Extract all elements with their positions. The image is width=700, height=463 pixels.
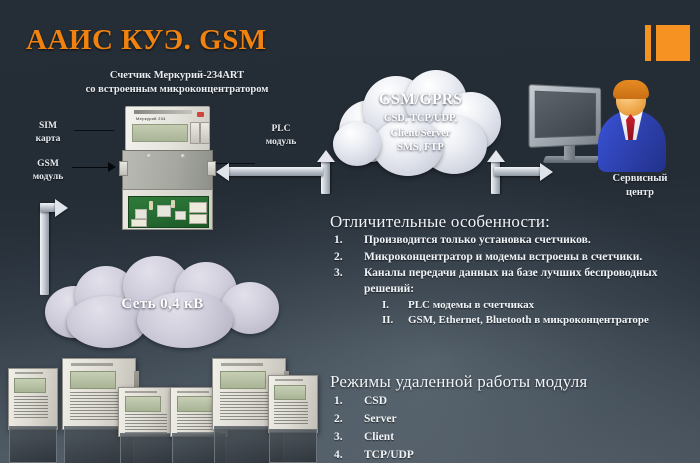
meter-clip-right: [207, 161, 216, 176]
list-item: 4. TCP/UDP: [330, 447, 696, 463]
pcb-capacitor: [149, 201, 153, 210]
meter-brand-strip: [221, 363, 263, 366]
meter-lcd-display: [125, 396, 161, 412]
meter-bank-item-1: [8, 368, 56, 463]
list-item: 3. Client: [330, 429, 696, 446]
pcb-capacitor: [171, 200, 175, 208]
arrow-meter-to-cloud-vertical: [321, 160, 330, 194]
list-item: I. PLC модемы в счетчиках: [364, 298, 696, 313]
monitor-screen: [535, 91, 596, 138]
cloud-low-voltage-network: Сеть 0,4 кВ: [45, 256, 280, 348]
meter-clip-left: [119, 161, 128, 176]
meter-pcb: [128, 196, 209, 228]
meter-caption: Счетчик Меркурий-234ART со встроенным ми…: [52, 69, 302, 97]
meter-button-2[interactable]: [200, 122, 210, 144]
modes-panel: Режимы удаленной работы модуля 1. CSD 2.…: [330, 372, 696, 463]
arrow-right-icon-3: [55, 199, 68, 217]
meter-seal: [197, 112, 204, 117]
meter-label-rows: [70, 392, 124, 422]
list-item: 1. CSD: [330, 393, 696, 410]
pcb-terminal-block: [189, 214, 207, 224]
list-item-number: 2.: [334, 411, 343, 428]
list-item-text: Микроконцентратор и модемы встроены в сч…: [364, 251, 642, 263]
list-item-number: 3.: [334, 266, 343, 282]
list-item-number: 1.: [334, 233, 343, 249]
list-item-number: I.: [382, 298, 389, 313]
page-title: ААИС КУЭ. GSM: [26, 24, 267, 57]
list-item: II. GSM, Ethernet, Bluetooth в микроконц…: [364, 313, 696, 328]
list-item-text: Client: [364, 431, 394, 443]
features-heading: Отличительные особенности:: [330, 212, 696, 232]
cloud-gsm-protocol-line2: Client/Server: [333, 127, 508, 142]
meter-label-rows: [125, 414, 167, 433]
list-item-number: 1.: [334, 393, 343, 410]
slide-canvas: ААИС КУЭ. GSM Счетчик Меркурий-234ART со…: [0, 0, 700, 463]
meter-terminal-cover: [9, 426, 56, 463]
accent-bar-large: [656, 25, 690, 61]
list-item-number: II.: [382, 313, 393, 328]
meter-brand-strip: [15, 372, 43, 374]
pcb-chip: [157, 205, 171, 217]
meter-brand-strip: [134, 110, 192, 114]
label-sim-line1: SIM: [22, 120, 74, 133]
meter-terminal-cover: [269, 429, 316, 463]
cloud-gsm-protocol-line3: SMS, FTP: [333, 141, 508, 156]
label-sim-line2: карта: [22, 133, 74, 146]
features-list: 1. Производится только установка счетчик…: [330, 233, 696, 328]
cloud-gsm-title: GSM/GPRS: [333, 91, 508, 109]
list-item-number: 4.: [334, 447, 343, 463]
meter-lcd-display: [70, 371, 116, 389]
meter-middle-cover: [122, 150, 213, 190]
list-item-text: TCP/UDP: [364, 449, 414, 461]
pcb-terminal-block: [131, 219, 147, 227]
meter-lcd-display: [274, 385, 306, 400]
arrow-left-icon: [216, 163, 229, 181]
label-sim-card: SIM карта: [22, 120, 74, 146]
gsm-arrow-shaft: [72, 167, 110, 168]
service-center-label-line1: Сервисный: [590, 172, 690, 186]
meter-microconcentrator-board: [122, 189, 213, 230]
gsm-arrow-head-icon: [108, 162, 116, 172]
accent-bar-small: [645, 25, 651, 61]
meter-model-text: Меркурий 234: [136, 116, 166, 121]
label-gsm-line2: модуль: [22, 171, 74, 184]
meter-screw: [181, 154, 185, 158]
meter-lcd-display: [14, 378, 46, 393]
list-item-text: Производится только установка счетчиков.: [364, 234, 591, 246]
list-item-text: Каналы передачи данных на базе лучших бе…: [364, 267, 657, 295]
list-item-text: Server: [364, 413, 397, 425]
label-plc-line2: модуль: [255, 136, 307, 149]
list-item-text: CSD: [364, 395, 387, 407]
list-item-number: 2.: [334, 250, 343, 266]
list-item-text: PLC модемы в счетчиках: [408, 299, 534, 311]
meter-bank-item-6: [268, 375, 316, 463]
meter-brand-strip: [177, 391, 209, 393]
monitor-icon: [528, 84, 601, 148]
service-center-label: Сервисный центр: [590, 172, 690, 200]
service-center-label-line2: центр: [590, 186, 690, 200]
person-hair: [613, 80, 649, 99]
meter-label-rows: [220, 392, 274, 422]
list-item-number: 3.: [334, 429, 343, 446]
meter-body: [118, 387, 176, 437]
electricity-meter-main: Меркурий 234: [122, 106, 211, 228]
cloud-network-title: Сеть 0,4 кВ: [45, 296, 280, 313]
cloud-gsm-protocols: CSD, TCP/UDP, Client/Server SMS, FTP: [333, 112, 508, 156]
list-item-text: GSM, Ethernet, Bluetooth в микроконцентр…: [408, 314, 649, 326]
meter-terminal-cover: [120, 433, 175, 463]
cloud-gsm-gprs: GSM/GPRS CSD, TCP/UDP, Client/Server SMS…: [333, 70, 508, 178]
features-sublist: I. PLC модемы в счетчиках II. GSM, Ether…: [364, 298, 696, 328]
sim-connector-line: [74, 130, 114, 131]
meter-label-rows: [274, 402, 308, 425]
label-gsm-module: GSM модуль: [22, 158, 74, 184]
label-plc-line1: PLC: [255, 123, 307, 136]
list-item: 3. Каналы передачи данных на базе лучших…: [330, 266, 696, 328]
meter-top-module: Меркурий 234: [125, 106, 210, 151]
modes-heading: Режимы удаленной работы модуля: [330, 372, 696, 392]
meter-bank-item-3: [118, 387, 174, 463]
meter-body: [8, 368, 58, 430]
meter-body: [268, 375, 318, 433]
arrow-cloud-to-meter-horizontal: [228, 167, 323, 176]
pcb-chip: [135, 209, 147, 219]
list-item: 2. Server: [330, 411, 696, 428]
pcb-terminal-block: [189, 202, 207, 213]
modes-list: 1. CSD 2. Server 3. Client 4. TCP/UDP: [330, 393, 696, 463]
meter-button-1[interactable]: [190, 122, 200, 144]
label-plc-module: PLC модуль: [255, 123, 307, 149]
label-gsm-line1: GSM: [22, 158, 74, 171]
meter-caption-line1: Счетчик Меркурий-234ART: [52, 69, 302, 83]
meter-label-rows: [14, 396, 48, 420]
meter-brand-strip: [125, 391, 157, 393]
cloud-gsm-protocol-line1: CSD, TCP/UDP,: [333, 112, 508, 127]
pcb-chip: [175, 211, 186, 220]
meter-lcd-display: [177, 396, 213, 412]
meter-lcd-display: [132, 124, 188, 142]
meter-brand-strip: [275, 379, 303, 381]
list-item: 1. Производится только установка счетчик…: [330, 233, 696, 249]
features-panel: Отличительные особенности: 1. Производит…: [330, 212, 696, 329]
meter-screw: [147, 154, 151, 158]
meter-lcd-display: [220, 371, 266, 389]
list-item: 2. Микроконцентратор и модемы встроены в…: [330, 250, 696, 266]
meter-brand-strip: [71, 363, 113, 366]
meter-caption-line2: со встроенным микроконцентратором: [52, 83, 302, 97]
service-center-group: Сервисный центр: [520, 78, 690, 208]
